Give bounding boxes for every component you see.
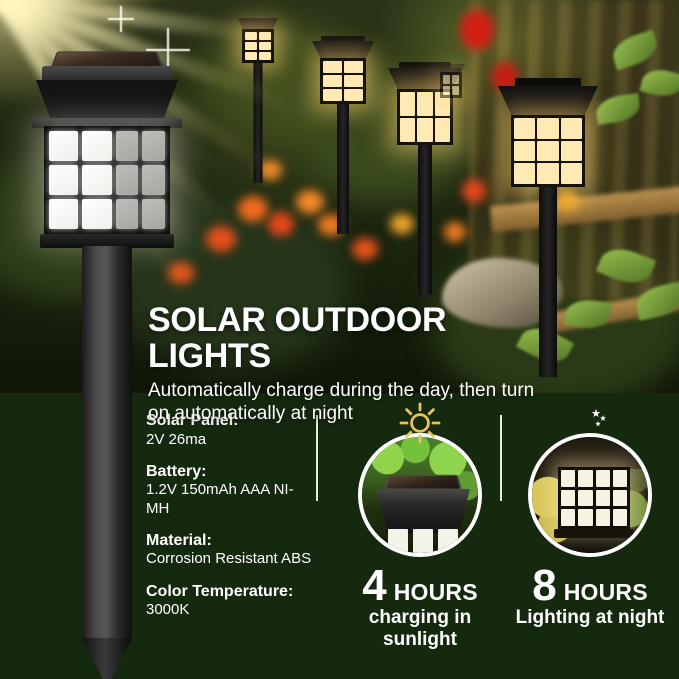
flower <box>238 196 268 222</box>
spec-value: 2V 26ma <box>146 431 316 449</box>
night-lantern-photo <box>528 433 652 557</box>
feature-unit: HOURS <box>394 579 478 606</box>
flower <box>444 222 466 242</box>
spec-value: 1.2V 150mAh AAA NI-MH <box>146 481 316 518</box>
product-marketing-image: Solar Panel: 2V 26ma Battery: 1.2V 150mA… <box>0 0 679 679</box>
flower <box>168 262 194 284</box>
solar-cell <box>384 475 462 490</box>
lantern-panes <box>388 529 458 555</box>
spec-label: Color Temperature: <box>146 582 316 602</box>
feature-caption: charging in sunlight <box>332 607 508 650</box>
spec-item: Color Temperature: 3000K <box>146 582 316 620</box>
lantern-cap <box>376 489 470 533</box>
flower <box>296 190 324 214</box>
flower <box>556 190 580 212</box>
page-subtitle: Automatically charge during the day, the… <box>148 380 548 426</box>
lantern-panes <box>558 467 630 529</box>
spec-item: Material: Corrosion Resistant ABS <box>146 531 316 569</box>
spec-label: Material: <box>146 531 316 551</box>
spec-label: Battery: <box>146 462 316 482</box>
flower <box>352 238 378 260</box>
flower <box>460 10 494 50</box>
spec-value: 3000K <box>146 601 316 619</box>
lantern-base <box>554 529 634 538</box>
lantern-face-side <box>116 131 165 229</box>
lantern-roof <box>36 80 178 122</box>
lantern-body <box>44 126 170 234</box>
flower <box>462 180 486 202</box>
feature-caption: Lighting at night <box>502 607 678 628</box>
sparkle-icon <box>108 6 134 32</box>
vertical-divider <box>316 415 318 501</box>
page-title: SOLAR OUTDOOR LIGHTS <box>148 302 568 374</box>
specifications-list: Solar Panel: 2V 26ma Battery: 1.2V 150mA… <box>146 411 316 633</box>
flower <box>268 212 294 236</box>
lantern-face-front <box>49 131 112 229</box>
feature-number: 8 <box>532 566 556 606</box>
spec-value: Corrosion Resistant ABS <box>146 550 316 568</box>
spec-item: Battery: 1.2V 150mAh AAA NI-MH <box>146 462 316 518</box>
feature-charging: 4 HOURS charging in sunlight <box>332 401 508 650</box>
ground-stake <box>82 246 132 641</box>
solar-panel-photo <box>358 433 482 557</box>
feature-lighting: 8 HOURS Lighting at night <box>502 401 678 629</box>
feature-number: 4 <box>362 566 386 606</box>
flower <box>390 214 414 234</box>
flower <box>206 226 236 252</box>
feature-unit: HOURS <box>564 579 648 606</box>
lantern-roof <box>544 449 644 469</box>
headline-block: SOLAR OUTDOOR LIGHTS Automatically charg… <box>148 302 568 426</box>
